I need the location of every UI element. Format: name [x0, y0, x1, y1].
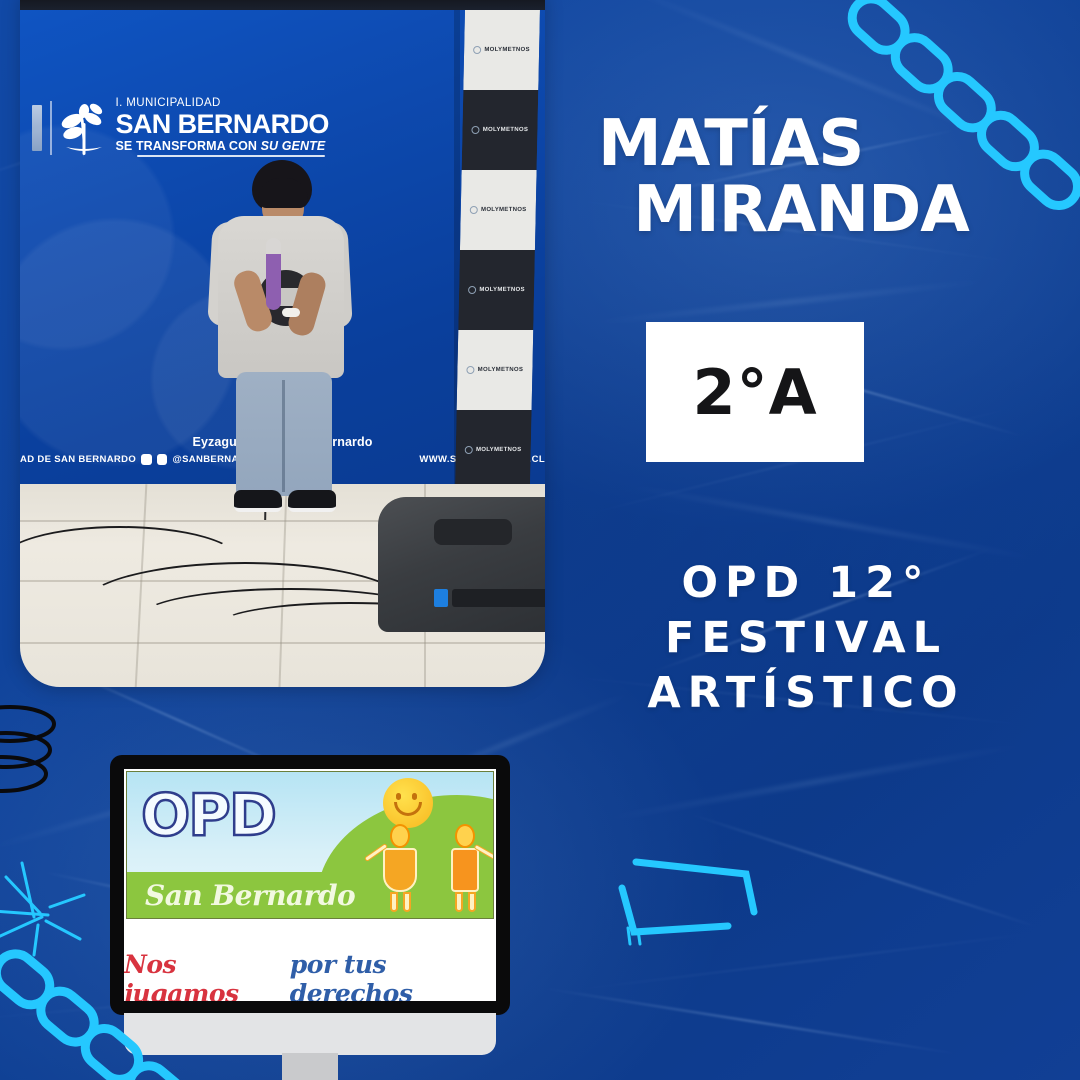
wristband [282, 308, 300, 317]
sponsor-label: MOLYMETNOS [479, 287, 525, 293]
sun-icon [383, 778, 433, 828]
molymet-ring-icon [468, 286, 476, 294]
municipality-text: I. MUNICIPALIDAD SAN BERNARDO SE TRANSFO… [116, 98, 329, 157]
sponsor-label: MOLYMETNOS [481, 207, 527, 213]
molymet-ring-icon [465, 446, 473, 454]
municipality-logo-lockup: I. MUNICIPALIDAD SAN BERNARDO SE TRANSFO… [32, 98, 329, 157]
molymet-ring-icon [467, 366, 475, 374]
monitor-stand-neck [282, 1053, 338, 1080]
sponsor-label: MOLYMETNOS [478, 367, 524, 373]
chain-top-right [830, 0, 1080, 230]
child-figure-left [383, 824, 417, 912]
event-line-1: OPD 12° [580, 556, 1032, 611]
sponsor-label: MOLYMETNOS [484, 47, 530, 53]
banner-footer-left: AD DE SAN BERNARDO [20, 454, 136, 465]
tagline-underline [137, 155, 325, 157]
molymet-ring-icon [470, 206, 478, 214]
molymet-ring-icon [472, 126, 480, 134]
opd-tagline-blue: por tus derechos [290, 950, 496, 1001]
crest-icon [32, 105, 42, 151]
shoe-right [288, 490, 336, 512]
speaker-panel [452, 589, 545, 607]
opd-acronym: OPD [141, 786, 275, 844]
sponsor-label: MOLYMETNOS [483, 127, 529, 133]
sponsor-cell: MOLYMETNOS [458, 250, 535, 330]
grade-label: 2°A [692, 356, 817, 429]
speaker-handle [434, 519, 512, 545]
student-performer [210, 160, 350, 520]
pa-speaker [378, 497, 545, 632]
sponsor-cell: MOLYMETNOS [463, 10, 540, 90]
sponsor-cell: MOLYMETNOS [462, 90, 539, 170]
speaker-led-icon [434, 589, 448, 607]
sparkle-burst [0, 855, 98, 965]
event-title-block: OPD 12° FESTIVAL ARTÍSTICO [580, 556, 1032, 721]
sponsor-cell: MOLYMETNOS [460, 170, 537, 250]
children-illustration [383, 828, 479, 912]
poster-canvas: I. MUNICIPALIDAD SAN BERNARDO SE TRANSFO… [0, 0, 1080, 1080]
jeans [236, 372, 332, 496]
sponsor-cell: MOLYMETNOS [455, 410, 532, 485]
brush-bracket-decoration [608, 840, 788, 950]
municipality-title: SAN BERNARDO [116, 111, 329, 138]
event-line-2: FESTIVAL [580, 611, 1032, 666]
opd-subtitle: San Bernardo [145, 879, 355, 912]
event-line-3: ARTÍSTICO [580, 666, 1032, 721]
divider-line [50, 101, 52, 155]
performance-photo: I. MUNICIPALIDAD SAN BERNARDO SE TRANSFO… [20, 0, 545, 687]
municipality-pretitle: I. MUNICIPALIDAD [116, 98, 329, 110]
plant-leaf-icon [60, 99, 108, 157]
opd-logo-panel: OPD San Bernardo [126, 771, 494, 919]
molymet-ring-icon [473, 46, 481, 54]
instagram-icon [141, 454, 152, 465]
child-figure-right [451, 824, 479, 912]
spiral-doodle [0, 700, 86, 800]
twitter-icon [157, 454, 168, 465]
sponsor-label: MOLYMETNOS [476, 447, 522, 453]
sponsor-strip: MOLYMETNOS MOLYMETNOS MOLYMETNOS MOLYMET… [455, 10, 540, 485]
microphone-icon [266, 238, 281, 310]
sponsor-cell: MOLYMETNOS [457, 330, 534, 410]
shoe-left [234, 490, 282, 512]
grade-badge: 2°A [646, 322, 864, 462]
municipality-tagline: SE TRANSFORMA CON SU GENTE [116, 140, 329, 153]
